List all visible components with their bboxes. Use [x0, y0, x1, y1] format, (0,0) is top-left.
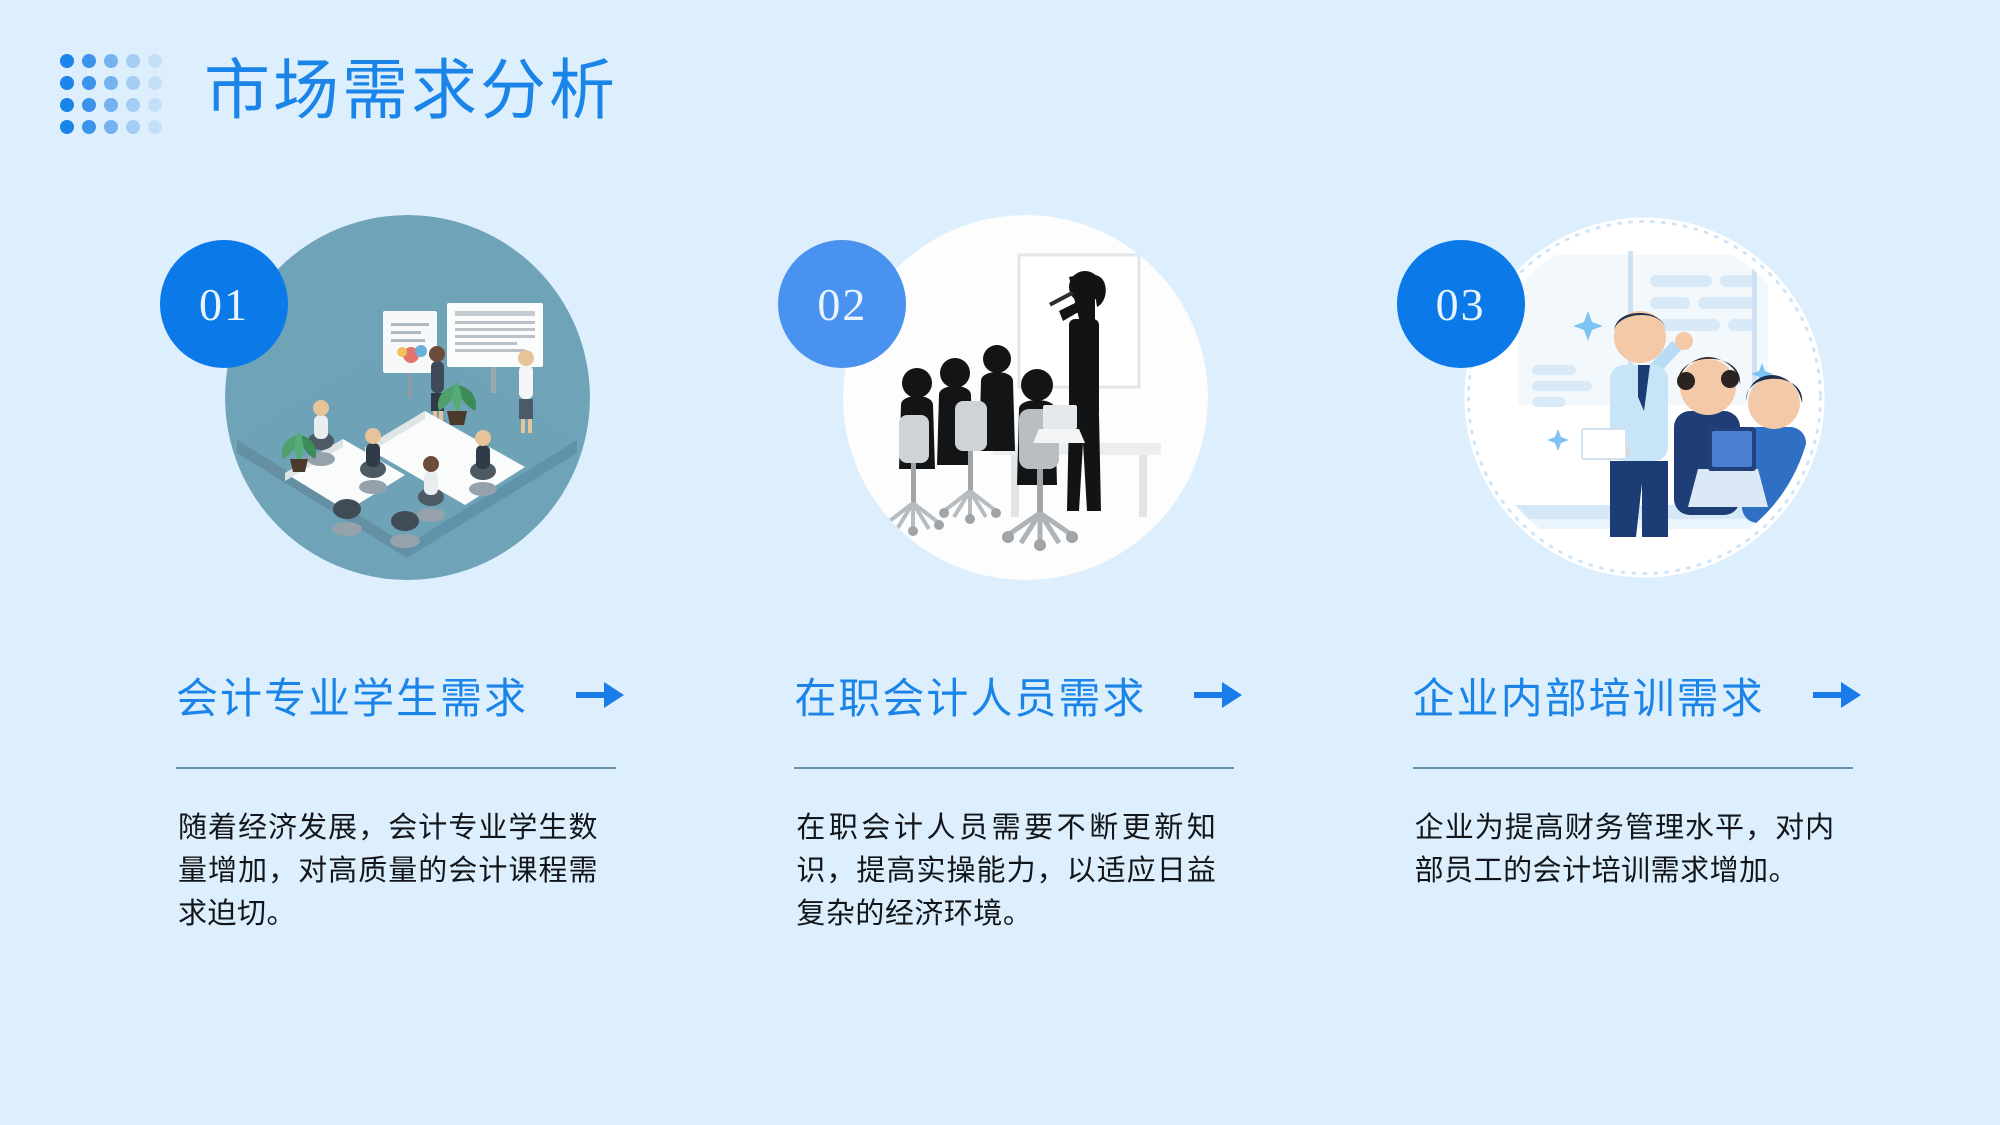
card-02-body: 在职会计人员需要不断更新知识，提高实操能力，以适应日益复杂的经济环境。: [796, 807, 1216, 936]
card-01: 01 会计专业学生需求 随着经济发展，会计专业学生数量增加，对高质量的会计课程需…: [160, 215, 763, 936]
card-02-number-badge: 02: [778, 240, 906, 368]
arrow-right-icon[interactable]: [574, 678, 626, 712]
slide-header: 市场需求分析: [60, 42, 618, 142]
card-01-media: 01: [160, 215, 580, 605]
card-02-title: 在职会计人员需求: [794, 665, 1146, 726]
card-02-divider: [794, 767, 1234, 769]
card-03-header: 企业内部培训需求: [1413, 665, 2000, 725]
business-meeting-silhouette-illustration: [843, 215, 1208, 580]
corporate-training-illustration: [1462, 215, 1827, 580]
card-01-header: 会计专业学生需求: [176, 665, 763, 725]
card-01-number-badge: 01: [160, 240, 288, 368]
dot-grid-decoration-icon: [60, 54, 162, 134]
card-03-divider: [1413, 767, 1853, 769]
card-02-media: 02: [778, 215, 1198, 605]
card-02-header: 在职会计人员需求: [794, 665, 1381, 725]
card-02: 02 在职会计人员需求 在职会计人员需要不断更新知识，提高实操能力，以适应日益复…: [778, 215, 1381, 936]
card-03-number: 03: [1436, 278, 1486, 331]
card-01-divider: [176, 767, 616, 769]
card-03-body: 企业为提高财务管理水平，对内部员工的会计培训需求增加。: [1415, 807, 1835, 893]
card-grid: 01 会计专业学生需求 随着经济发展，会计专业学生数量增加，对高质量的会计课程需…: [0, 215, 2000, 936]
arrow-right-icon[interactable]: [1811, 678, 1863, 712]
page-title: 市场需求分析: [204, 59, 618, 125]
card-01-title: 会计专业学生需求: [176, 665, 528, 726]
card-03-number-badge: 03: [1397, 240, 1525, 368]
card-03-media: 03: [1397, 215, 1817, 605]
arrow-right-icon[interactable]: [1192, 678, 1244, 712]
classroom-meeting-illustration: [225, 215, 590, 580]
card-01-body: 随着经济发展，会计专业学生数量增加，对高质量的会计课程需求迫切。: [178, 807, 598, 936]
card-01-number: 01: [199, 278, 249, 331]
card-03: 03 企业内部培训需求 企业为提高财务管理水平，对内部员工的会计培训需求增加。: [1397, 215, 2000, 936]
card-02-number: 02: [817, 278, 867, 331]
card-03-title: 企业内部培训需求: [1413, 665, 1765, 726]
